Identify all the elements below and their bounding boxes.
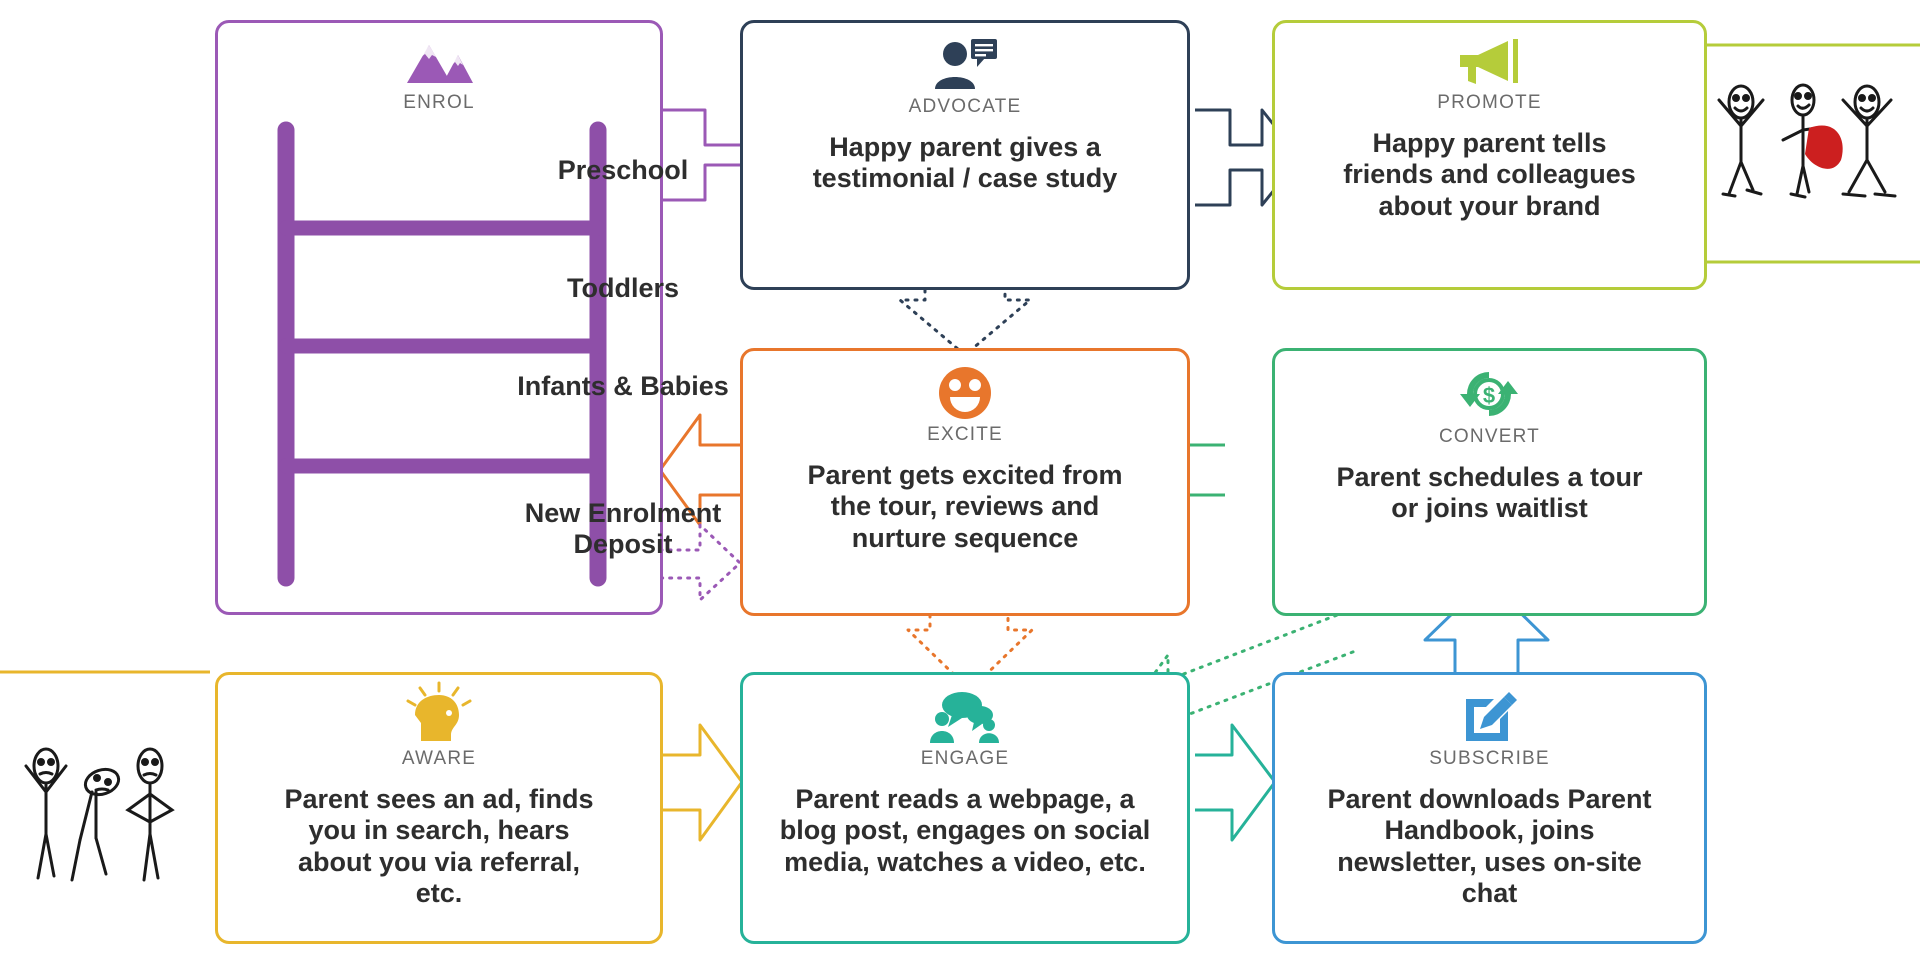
- enrol-step-toddlers: Toddlers: [473, 273, 773, 304]
- engage-icon-group: ENGAGE: [921, 689, 1010, 770]
- stage-label-aware: AWARE: [402, 748, 476, 770]
- box-text-excite: Parent gets excited from the tour, revie…: [767, 460, 1163, 554]
- stage-label-promote: PROMOTE: [1437, 92, 1541, 114]
- mountains-icon: [403, 37, 475, 89]
- stage-label-advocate: ADVOCATE: [909, 96, 1022, 118]
- stage-label-convert: CONVERT: [1439, 426, 1540, 448]
- box-text-engage: Parent reads a webpage, a blog post, eng…: [757, 784, 1173, 878]
- connector-aware-engage: [660, 725, 742, 840]
- dollar-refresh-icon: $: [1459, 365, 1519, 423]
- confused-stick-figures: [10, 730, 200, 890]
- funnel-diagram: ENROL Preschool Toddlers Infants & Babie…: [0, 0, 1920, 957]
- enrol-icon-group: ENROL: [403, 37, 475, 114]
- svg-text:$: $: [1483, 383, 1495, 408]
- convert-icon-group: $ CONVERT: [1439, 365, 1540, 448]
- promote-icon-group: PROMOTE: [1437, 37, 1541, 114]
- stage-label-subscribe: SUBSCRIBE: [1429, 748, 1550, 770]
- box-enrol[interactable]: ENROL Preschool Toddlers Infants & Babie…: [215, 20, 663, 615]
- box-engage[interactable]: ENGAGE Parent reads a webpage, a blog po…: [740, 672, 1190, 944]
- box-text-convert: Parent schedules a tour or joins waitlis…: [1312, 462, 1668, 525]
- stage-label-excite: EXCITE: [927, 424, 1003, 446]
- people-chat-icon: [928, 689, 1002, 745]
- box-text-aware: Parent sees an ad, finds you in search, …: [256, 784, 622, 909]
- box-text-subscribe: Parent downloads Parent Handbook, joins …: [1302, 784, 1678, 909]
- pencil-square-icon: [1460, 689, 1518, 745]
- idea-head-icon: [409, 689, 469, 745]
- box-advocate[interactable]: ADVOCATE Happy parent gives a testimonia…: [740, 20, 1190, 290]
- subscribe-icon-group: SUBSCRIBE: [1429, 689, 1550, 770]
- aware-icon-group: AWARE: [402, 689, 476, 770]
- box-text-advocate: Happy parent gives a testimonial / case …: [782, 132, 1148, 195]
- enrol-step-preschool: Preschool: [473, 155, 773, 186]
- stage-label-engage: ENGAGE: [921, 748, 1010, 770]
- megaphone-icon: [1454, 37, 1526, 89]
- box-promote[interactable]: PROMOTE Happy parent tells friends and c…: [1272, 20, 1707, 290]
- smiley-face-icon: [937, 365, 993, 421]
- celebrating-stick-figures: [1705, 70, 1905, 205]
- stage-label-enrol: ENROL: [403, 92, 474, 114]
- enrol-step-new-enrolment-deposit: New Enrolment Deposit: [523, 498, 723, 560]
- connector-advocate-excite: [900, 290, 1030, 355]
- red-cape: [1805, 126, 1843, 169]
- box-text-promote: Happy parent tells friends and colleague…: [1322, 128, 1658, 222]
- enrol-step-infants-babies: Infants & Babies: [513, 371, 733, 402]
- box-excite[interactable]: EXCITE Parent gets excited from the tour…: [740, 348, 1190, 616]
- box-convert[interactable]: $ CONVERT Parent schedules a tour or joi…: [1272, 348, 1707, 616]
- box-aware[interactable]: AWARE Parent sees an ad, finds you in se…: [215, 672, 663, 944]
- connector-engage-subscribe: [1195, 725, 1275, 840]
- advocate-icon-group: ADVOCATE: [909, 37, 1022, 118]
- excite-icon-group: EXCITE: [927, 365, 1003, 446]
- box-subscribe[interactable]: SUBSCRIBE Parent downloads Parent Handbo…: [1272, 672, 1707, 944]
- person-speech-bubble-icon: [931, 37, 999, 93]
